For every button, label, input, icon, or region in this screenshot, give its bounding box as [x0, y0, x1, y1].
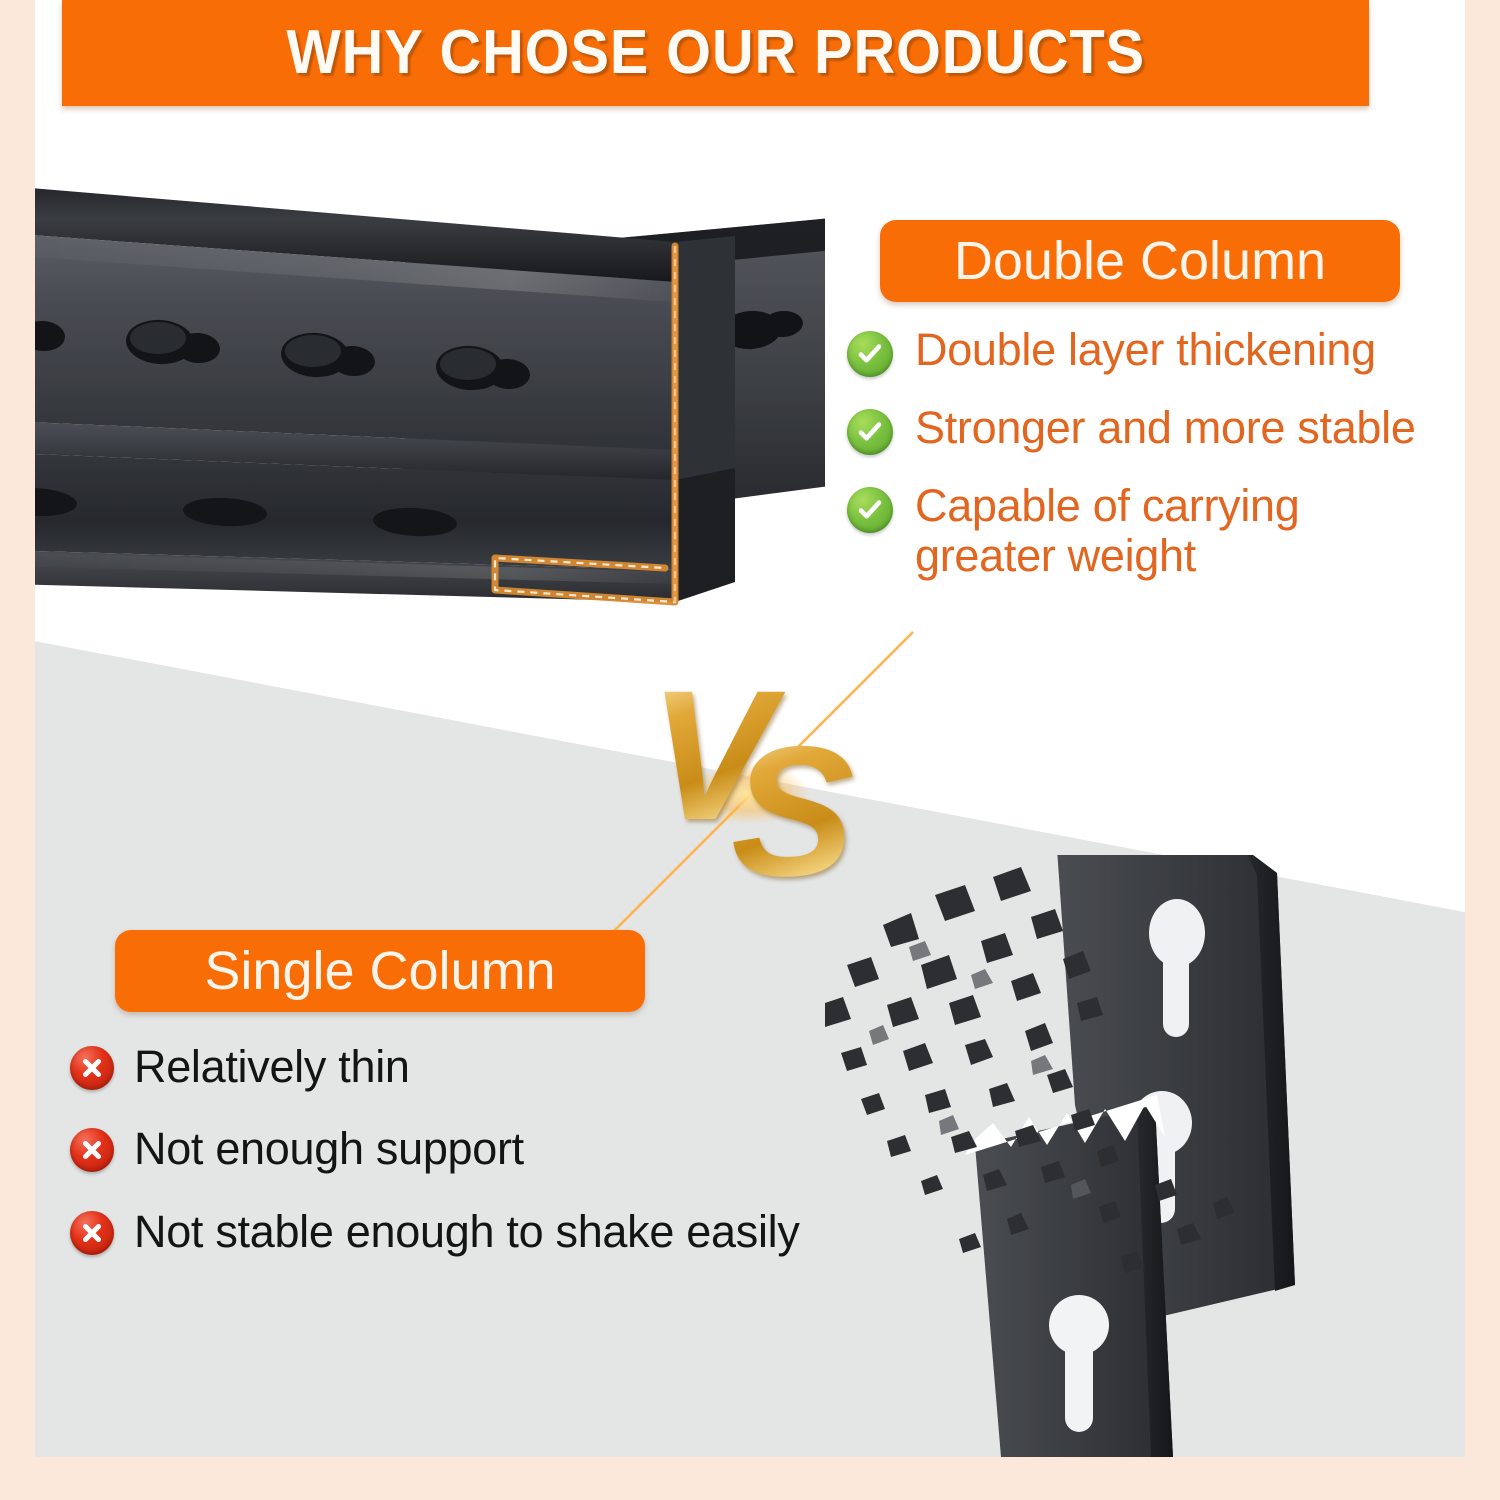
benefit-label: Stronger and more stable — [915, 403, 1416, 453]
versus-emblem: V S — [645, 660, 905, 890]
list-item: Not enough support — [70, 1124, 900, 1174]
single-column-badge: Single Column — [115, 930, 645, 1012]
list-item: Double layer thickening — [847, 325, 1457, 377]
versus-letter-s: S — [731, 720, 991, 905]
check-circle-icon — [847, 487, 893, 533]
check-circle-icon — [847, 331, 893, 377]
double-column-beam-photo — [35, 140, 825, 610]
benefit-label: Capable of carrying greater weight — [915, 481, 1300, 582]
drawback-label: Relatively thin — [134, 1042, 410, 1092]
check-circle-icon — [847, 409, 893, 455]
double-column-benefits-list: Double layer thickening Stronger and mor… — [847, 325, 1457, 608]
list-item: Relatively thin — [70, 1042, 900, 1092]
single-column-drawbacks-list: Relatively thin Not enough support — [70, 1042, 900, 1289]
double-column-badge-label: Double Column — [954, 234, 1326, 288]
list-item: Capable of carrying greater weight — [847, 481, 1457, 582]
cross-circle-icon — [70, 1128, 114, 1172]
single-column-badge-label: Single Column — [204, 944, 555, 998]
drawback-label: Not stable enough to shake easily — [134, 1207, 800, 1257]
content-canvas: V S Double Column Double layer thickenin… — [35, 0, 1465, 1457]
drawback-label: Not enough support — [134, 1124, 524, 1174]
infographic-page: V S Double Column Double layer thickenin… — [0, 0, 1500, 1500]
header-banner: WHY CHOSE OUR PRODUCTS — [62, 0, 1369, 106]
cross-circle-icon — [70, 1046, 114, 1090]
benefit-label: Double layer thickening — [915, 325, 1376, 375]
broken-single-column-photo — [825, 855, 1465, 1457]
page-title: WHY CHOSE OUR PRODUCTS — [286, 22, 1145, 84]
list-item: Stronger and more stable — [847, 403, 1457, 455]
cross-circle-icon — [70, 1211, 114, 1255]
list-item: Not stable enough to shake easily — [70, 1207, 900, 1257]
double-column-badge: Double Column — [880, 220, 1400, 302]
